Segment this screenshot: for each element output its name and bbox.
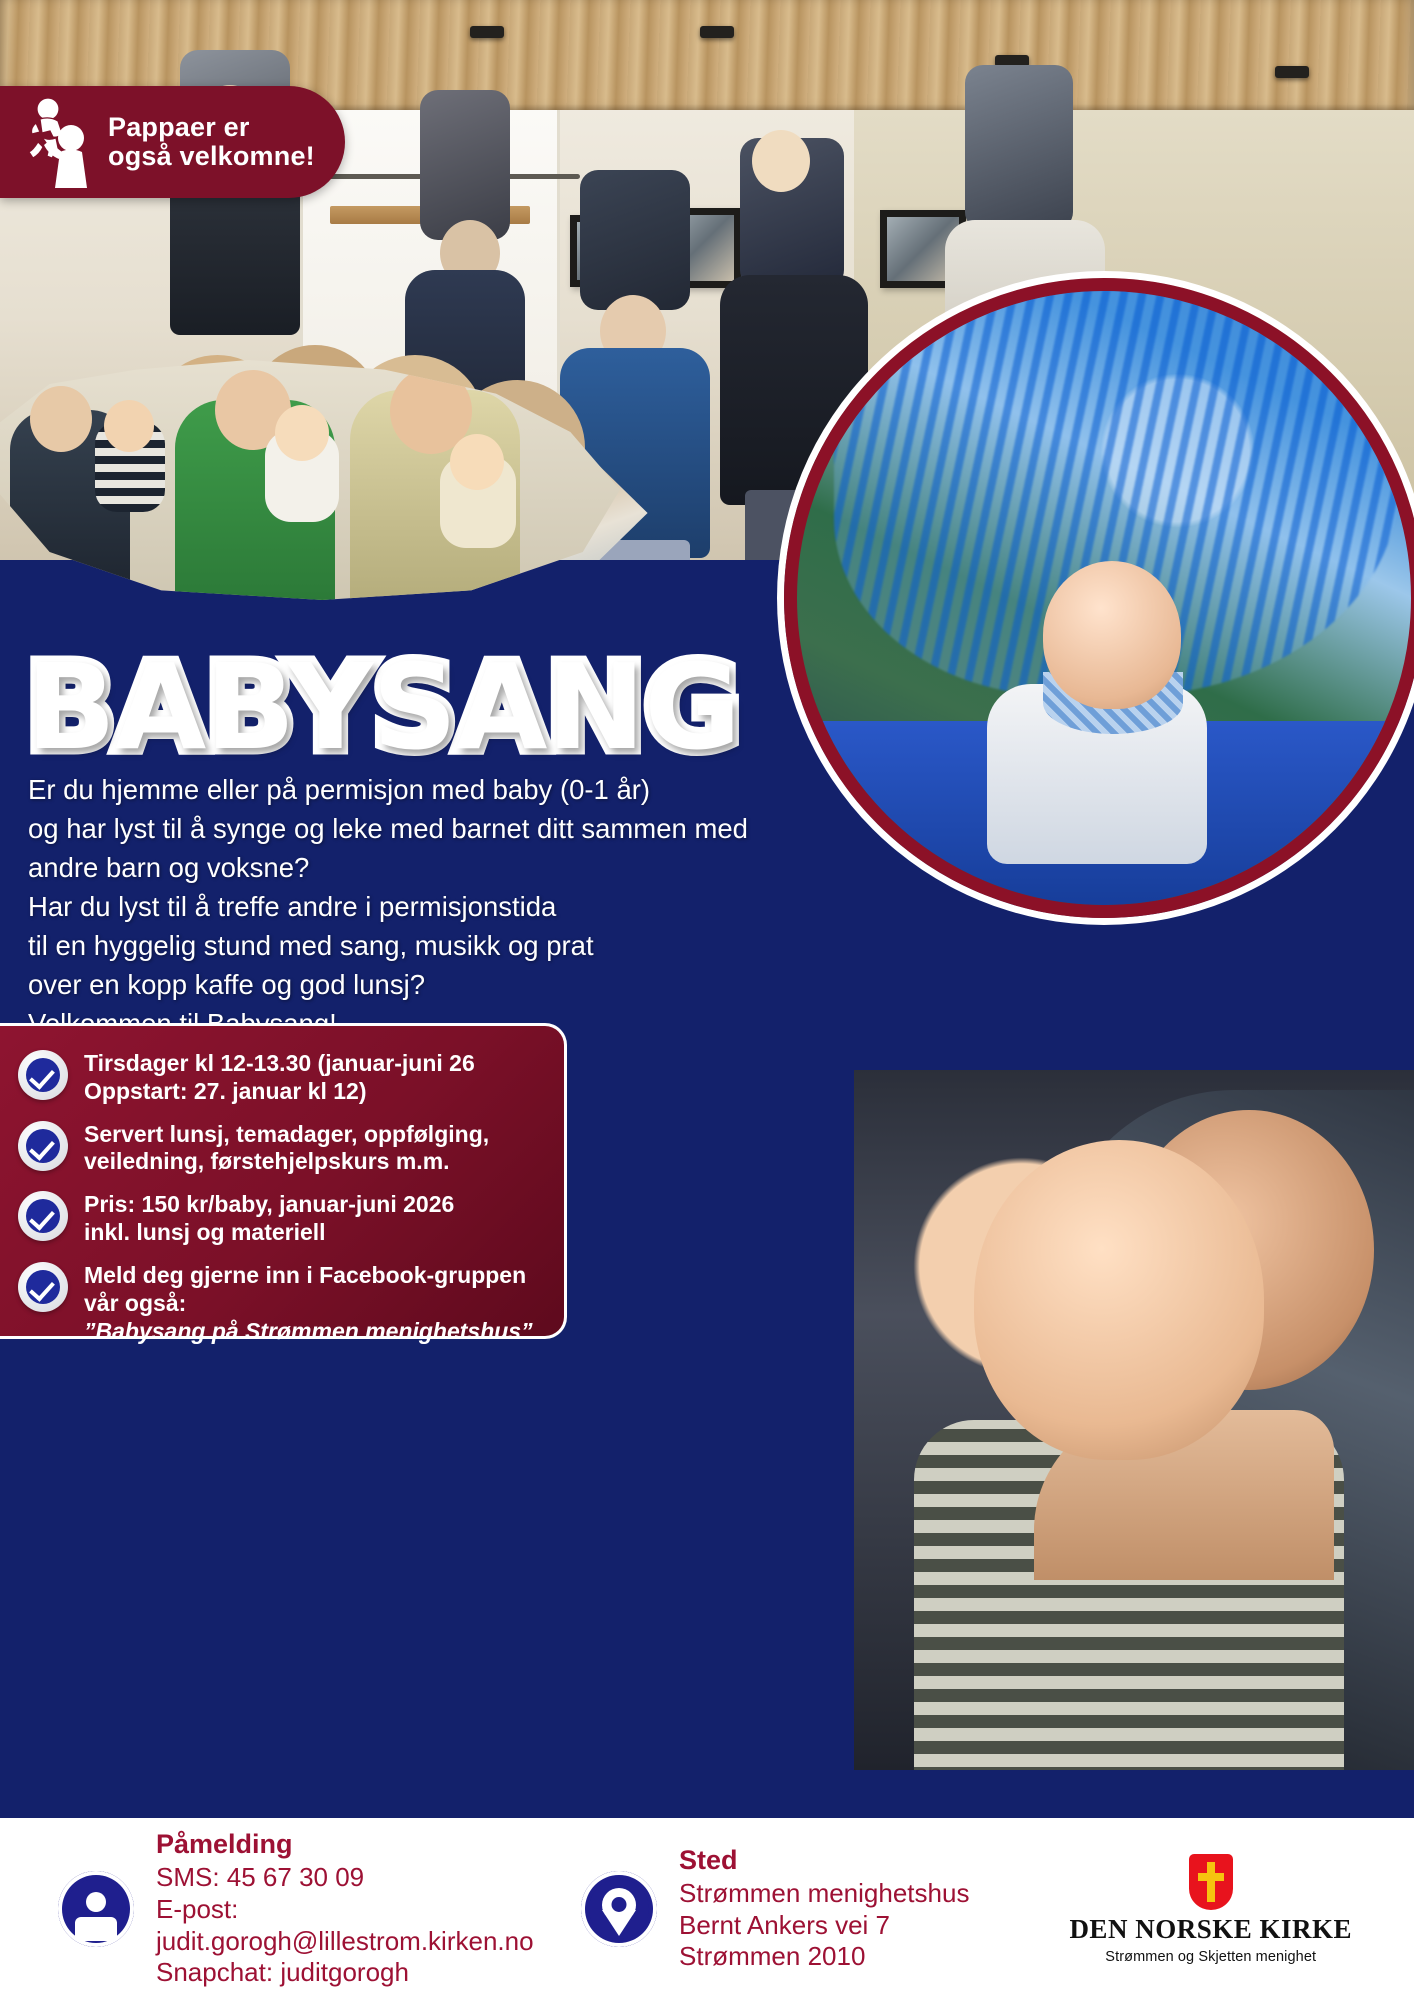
footer-bar: Påmelding SMS: 45 67 30 09 E-post: judit…	[0, 1818, 1414, 2000]
location-text: Sted Strømmen menighetshus Bernt Ankers …	[679, 1845, 969, 1973]
intro-line: til en hyggelig stund med sang, musikk o…	[28, 926, 678, 965]
badge-line-2: også velkomne!	[108, 142, 315, 171]
checklist-line: veiledning, førstehjelpskurs m.m.	[84, 1148, 489, 1176]
map-pin-circle-icon	[581, 1871, 657, 1947]
dads-welcome-badge: Pappaer er også velkomne!	[0, 86, 345, 198]
details-checklist-panel: Tirsdager kl 12-13.30 (januar-juni 26 Op…	[0, 1023, 567, 1339]
registration-sms: SMS: 45 67 30 09	[156, 1862, 563, 1894]
church-logo: DEN NORSKE KIRKE Strømmen og Skjetten me…	[1069, 1854, 1352, 1965]
check-circle-icon	[18, 1121, 68, 1171]
checklist-item: Tirsdager kl 12-13.30 (januar-juni 26 Op…	[18, 1048, 544, 1106]
registration-block: Påmelding SMS: 45 67 30 09 E-post: judit…	[58, 1829, 563, 1989]
registration-text: Påmelding SMS: 45 67 30 09 E-post: judit…	[156, 1829, 563, 1989]
checklist-line: Tirsdager kl 12-13.30 (januar-juni 26	[84, 1050, 475, 1078]
baby-head	[1043, 561, 1181, 709]
check-circle-icon	[18, 1050, 68, 1100]
checklist-item-text: Tirsdager kl 12-13.30 (januar-juni 26 Op…	[84, 1048, 475, 1106]
person-circle-icon	[58, 1871, 134, 1947]
checklist-line: Meld deg gjerne inn i Facebook-gruppen	[84, 1262, 533, 1290]
registration-snapchat: Snapchat: juditgorogh	[156, 1957, 563, 1989]
checklist-line: vår også:	[84, 1290, 533, 1318]
church-logo-sub: Strømmen og Skjetten menighet	[1105, 1949, 1316, 1965]
page-title: BABYSANG	[26, 648, 740, 766]
footer-divider	[0, 1812, 1414, 1818]
checklist-line: Oppstart: 27. januar kl 12)	[84, 1078, 475, 1106]
circle-photo-baby	[784, 278, 1414, 918]
intro-line: andre barn og voksne?	[28, 848, 678, 887]
checklist-item-text: Servert lunsj, temadager, oppfølging, ve…	[84, 1119, 489, 1177]
checklist-item: Servert lunsj, temadager, oppfølging, ve…	[18, 1119, 544, 1177]
baby-head	[974, 1140, 1264, 1460]
location-venue: Strømmen menighetshus	[679, 1878, 969, 1910]
ceiling-light	[470, 26, 504, 38]
mother-and-baby-photo	[854, 1070, 1414, 1770]
dads-welcome-text: Pappaer er også velkomne!	[108, 113, 315, 171]
checklist-item-text: Meld deg gjerne inn i Facebook-gruppen v…	[84, 1260, 533, 1345]
registration-email[interactable]: E-post: judit.gorogh@lillestrom.kirken.n…	[156, 1894, 563, 1957]
checklist-line: inkl. lunsj og materiell	[84, 1219, 454, 1247]
location-block: Sted Strømmen menighetshus Bernt Ankers …	[581, 1845, 1001, 1973]
intro-line: Har du lyst til å treffe andre i permisj…	[28, 887, 678, 926]
check-circle-icon	[18, 1191, 68, 1241]
location-heading: Sted	[679, 1845, 969, 1876]
ceiling-light	[700, 26, 734, 38]
check-circle-icon	[18, 1262, 68, 1312]
checklist-item: Meld deg gjerne inn i Facebook-gruppen v…	[18, 1260, 544, 1345]
checklist-line: Pris: 150 kr/baby, januar-juni 2026	[84, 1191, 454, 1219]
location-street: Bernt Ankers vei 7	[679, 1910, 969, 1942]
registration-heading: Påmelding	[156, 1829, 563, 1860]
intro-line: Er du hjemme eller på permisjon med baby…	[28, 770, 678, 809]
intro-line: over en kopp kaffe og god lunsj?	[28, 965, 678, 1004]
checklist-item-text: Pris: 150 kr/baby, januar-juni 2026 inkl…	[84, 1189, 454, 1247]
checklist-item: Pris: 150 kr/baby, januar-juni 2026 inkl…	[18, 1189, 544, 1247]
parent-lifting-baby-icon	[14, 96, 98, 188]
badge-line-1: Pappaer er	[108, 113, 315, 142]
facebook-group-name: ”Babysang på Strømmen menighetshus”	[84, 1318, 533, 1346]
checklist-line: Servert lunsj, temadager, oppfølging,	[84, 1121, 489, 1149]
norwegian-church-shield-icon	[1189, 1854, 1233, 1910]
church-logo-main: DEN NORSKE KIRKE	[1069, 1914, 1352, 1945]
ceiling-light	[1275, 66, 1309, 78]
location-city: Strømmen 2010	[679, 1941, 969, 1973]
intro-paragraph: Er du hjemme eller på permisjon med baby…	[28, 770, 678, 1043]
poster-root: Pappaer er også velkomne! BABYSANG Er du…	[0, 0, 1414, 2000]
intro-line: og har lyst til å synge og leke med barn…	[28, 809, 678, 848]
